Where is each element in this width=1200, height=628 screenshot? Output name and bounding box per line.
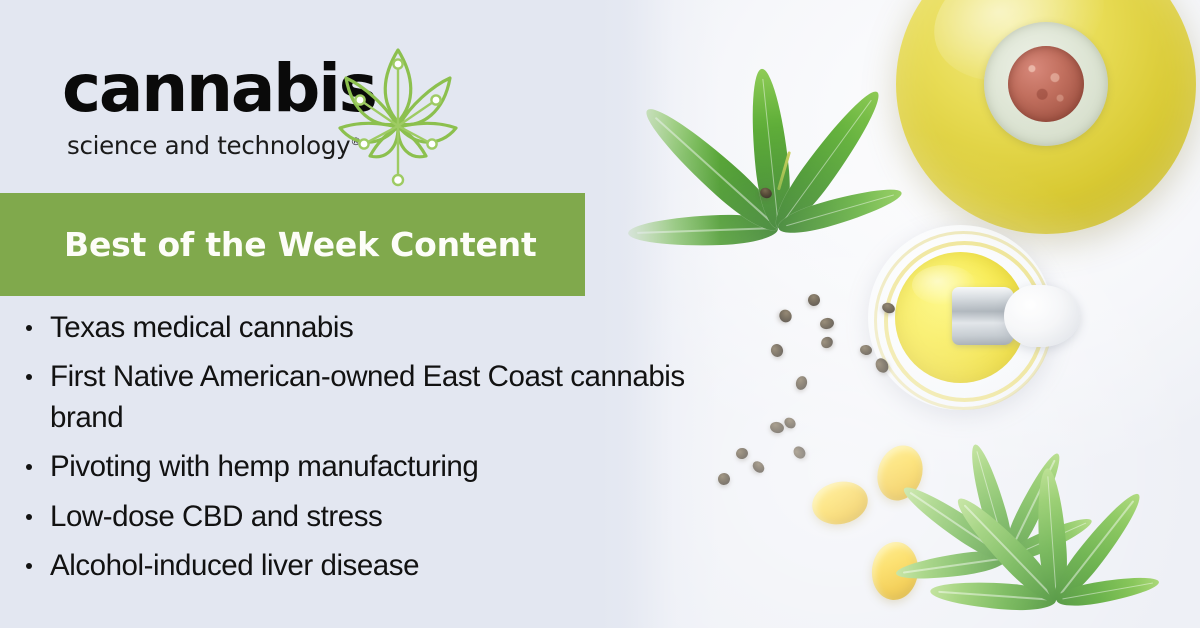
cannabis-seed	[750, 459, 766, 475]
cannabis-seed	[819, 335, 835, 351]
dropper-bottle-top-view	[868, 225, 1098, 410]
softgel-capsule	[808, 477, 872, 530]
cannabis-seed	[735, 447, 749, 461]
list-item: First Native American-owned East Coast c…	[18, 357, 698, 438]
list-item: Low-dose CBD and stress	[18, 497, 698, 537]
cannabis-seed	[777, 307, 794, 325]
cannabis-seed	[794, 375, 808, 391]
list-item: Pivoting with hemp manufacturing	[18, 447, 698, 487]
cannabis-seed	[791, 444, 808, 461]
list-item: Alcohol-induced liver disease	[18, 546, 698, 586]
oil-bottle-top-view	[896, 0, 1196, 234]
cannabis-leaf-circuit-logo-icon	[324, 34, 472, 194]
cannabis-seed	[769, 342, 785, 358]
cannabis-seed	[806, 292, 822, 308]
promo-card: cannabis science and technology®	[0, 0, 1200, 628]
brand-tagline: science and technology®	[67, 134, 361, 159]
brand-tagline-text: science and technology	[67, 131, 350, 160]
cannabis-leaf-bottom-right-front-icon	[972, 430, 1140, 600]
topic-list: Texas medical cannabisFirst Native Ameri…	[18, 308, 698, 595]
banner-title: Best of the Week Content	[64, 225, 537, 264]
brand-logo[interactable]: cannabis science and technology®	[62, 56, 462, 186]
cannabis-seed	[769, 421, 785, 435]
dropper-rubber-bulb	[1004, 285, 1080, 347]
cannabis-leaf-top-icon	[678, 18, 878, 228]
section-banner: Best of the Week Content	[0, 193, 585, 296]
cannabis-seed	[782, 415, 798, 430]
cannabis-seed	[819, 317, 835, 330]
list-item: Texas medical cannabis	[18, 308, 698, 348]
bottle-cork-stopper	[1008, 46, 1084, 122]
cannabis-seed	[717, 472, 730, 485]
